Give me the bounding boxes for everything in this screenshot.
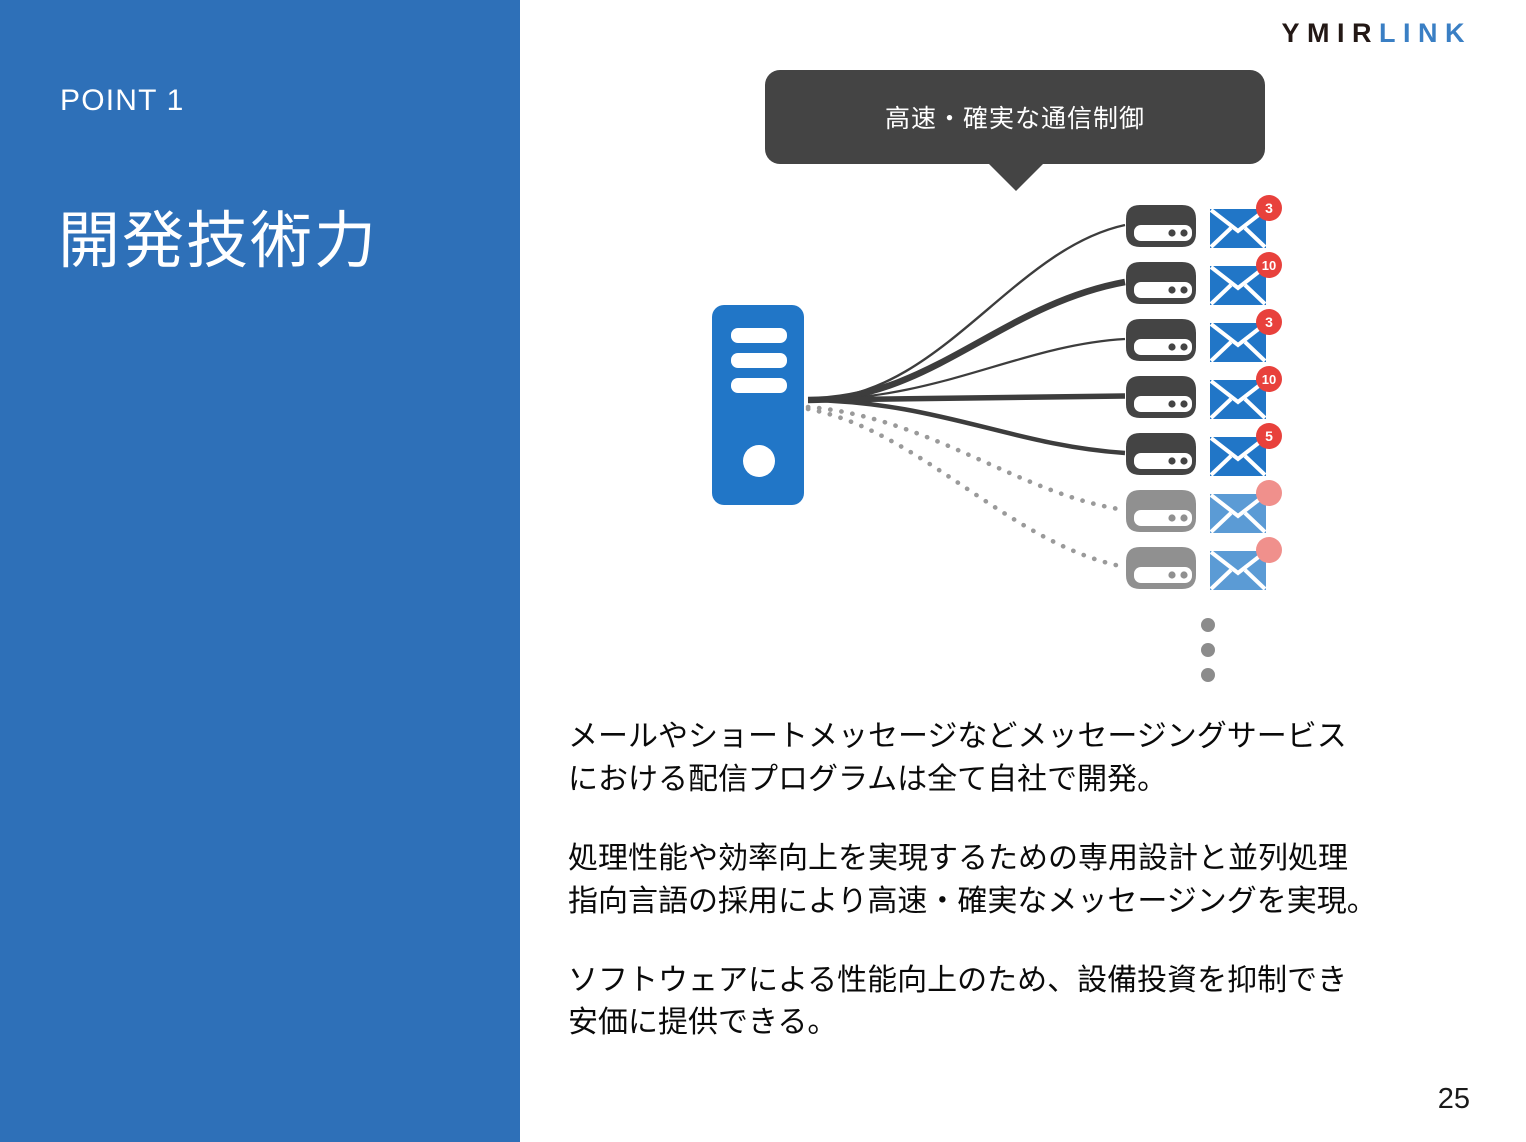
svg-text:3: 3 <box>1265 314 1273 330</box>
destination-row-1: 3 <box>1126 195 1282 248</box>
svg-text:10: 10 <box>1262 372 1276 387</box>
unread-badge: 3 <box>1256 309 1282 335</box>
page-title: 開発技術力 <box>58 190 378 280</box>
unread-badge: 10 <box>1256 366 1282 392</box>
destination-row-4: 10 <box>1126 366 1282 419</box>
envelope-icon <box>1210 209 1266 248</box>
destination-row-6 <box>1126 480 1282 533</box>
callout-label: 高速・確実な通信制御 <box>885 99 1145 135</box>
blue-server-tower-icon <box>712 305 804 505</box>
destination-row-3: 3 <box>1126 309 1282 362</box>
envelope-icon <box>1210 551 1266 590</box>
logo-text-ymir: YMIR <box>1282 18 1380 48</box>
envelope-icon <box>1210 437 1266 476</box>
connection-line-7 <box>808 409 1125 567</box>
svg-text:10: 10 <box>1262 258 1276 273</box>
envelope-icon <box>1210 323 1266 362</box>
connection-lines-group <box>808 225 1125 567</box>
ymirlink-logo: YMIRLINK <box>1282 18 1473 49</box>
body-line: ソフトウェアによる性能向上のため、設備投資を抑制でき <box>568 960 1478 1003</box>
body-text-block: メールやショートメッセージなどメッセージングサービス における配信プログラムは全… <box>568 716 1478 1045</box>
svg-text:5: 5 <box>1265 428 1273 444</box>
svg-text:3: 3 <box>1265 200 1273 216</box>
body-paragraph-2: 処理性能や効率向上を実現するための専用設計と並列処理 指向言語の採用により高速・… <box>568 838 1478 924</box>
connection-line-2 <box>808 282 1125 400</box>
logo-text-link: LINK <box>1379 18 1472 48</box>
vertical-ellipsis-icon <box>1201 618 1215 682</box>
destination-row-2: 10 <box>1126 252 1282 305</box>
callout-bubble: 高速・確実な通信制御 <box>765 70 1265 164</box>
unread-badge <box>1256 537 1282 563</box>
unread-badge <box>1256 480 1282 506</box>
destination-row-7 <box>1126 537 1282 590</box>
envelope-icon <box>1210 380 1266 419</box>
messaging-distribution-diagram: 3 10 <box>690 195 1310 695</box>
unread-badge: 10 <box>1256 252 1282 278</box>
callout-tail-triangle <box>988 163 1044 191</box>
point-eyebrow-label: POINT 1 <box>60 84 185 118</box>
body-paragraph-1: メールやショートメッセージなどメッセージングサービス における配信プログラムは全… <box>568 716 1478 802</box>
slide-root: POINT 1 開発技術力 YMIRLINK 高速・確実な通信制御 <box>0 0 1526 1142</box>
left-blue-panel: POINT 1 開発技術力 <box>0 0 520 1142</box>
body-line: 安価に提供できる。 <box>568 1002 1478 1045</box>
unread-badge: 5 <box>1256 423 1282 449</box>
destination-row-5: 5 <box>1126 423 1282 476</box>
body-paragraph-3: ソフトウェアによる性能向上のため、設備投資を抑制でき 安価に提供できる。 <box>568 960 1478 1046</box>
envelope-icon <box>1210 494 1266 533</box>
body-line: における配信プログラムは全て自社で開発。 <box>568 759 1478 802</box>
unread-badge: 3 <box>1256 195 1282 221</box>
body-line: メールやショートメッセージなどメッセージングサービス <box>568 716 1478 759</box>
page-number: 25 <box>1438 1083 1470 1116</box>
connection-line-5 <box>808 400 1125 453</box>
body-line: 指向言語の採用により高速・確実なメッセージングを実現。 <box>568 881 1478 924</box>
body-line: 処理性能や効率向上を実現するための専用設計と並列処理 <box>568 838 1478 881</box>
envelope-icon <box>1210 266 1266 305</box>
